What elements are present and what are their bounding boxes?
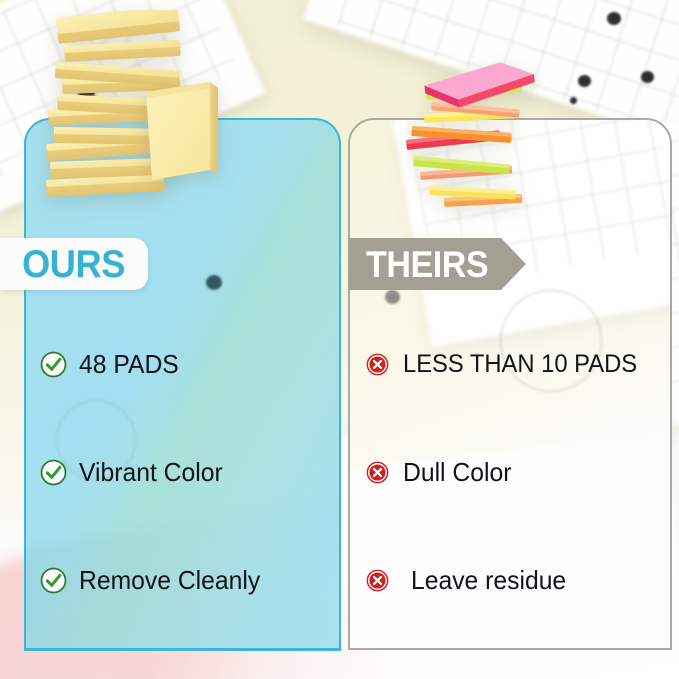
ours-panel-dot [206,275,222,290]
theirs-sticky-note-stack [400,62,575,222]
ours-header-badge: OURS [0,238,148,290]
check-circle-icon [40,459,67,486]
theirs-header-badge: THEIRS [348,238,526,290]
check-circle-icon [40,351,67,378]
x-circle-icon [366,569,389,592]
neon-pad-stack-icon [400,62,575,222]
ours-feature-row: Remove Cleanly [40,560,330,600]
ours-feature-list: 48 PADS Vibrant Color Remove Cleanly [40,344,330,668]
theirs-header-label: THEIRS [366,246,488,283]
background-dot [641,71,654,83]
standing-pad-icon [142,78,220,183]
check-circle-icon [40,567,67,594]
background-dot [607,12,621,25]
x-circle-icon [366,461,389,484]
theirs-feature-list: LESS THAN 10 PADS Dull Color Leave resid… [366,344,666,668]
theirs-feature-row: Leave residue [366,560,666,600]
background-dot [578,75,591,87]
ours-feature-label: Remove Cleanly [79,567,260,593]
ours-feature-row: 48 PADS [40,344,330,384]
x-circle-icon [366,353,389,376]
ours-standing-sticky-pad [142,78,220,183]
theirs-feature-label: Leave residue [411,567,566,593]
ours-feature-row: Vibrant Color [40,452,330,492]
theirs-feature-label: Dull Color [403,459,511,485]
comparison-infographic: OURS THEIRS 48 PADS Vibrant Color [0,0,679,679]
ours-feature-label: 48 PADS [79,351,179,377]
theirs-feature-row: LESS THAN 10 PADS [366,344,666,384]
ours-header-label: OURS [22,245,125,284]
theirs-feature-row: Dull Color [366,452,666,492]
theirs-panel-dot [385,290,400,304]
ours-feature-label: Vibrant Color [79,459,223,485]
theirs-feature-label: LESS THAN 10 PADS [403,352,637,377]
